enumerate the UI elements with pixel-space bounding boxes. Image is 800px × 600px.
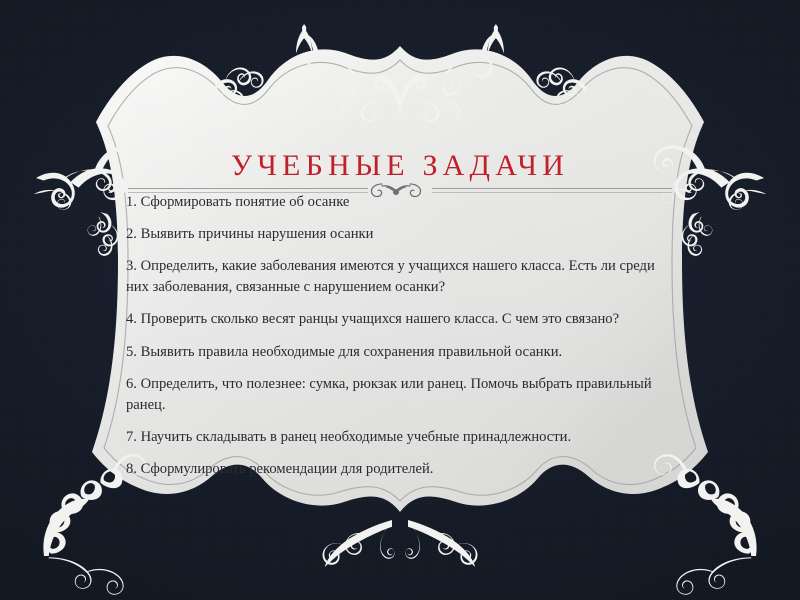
list-item: 5. Выявить правила необходимые для сохра… bbox=[126, 342, 678, 363]
slide-content: Учебные задачи bbox=[0, 0, 800, 600]
list-item: 6. Определить, что полезнее: сумка, рюкз… bbox=[126, 374, 678, 415]
list-item: 3. Определить, какие заболевания имеются… bbox=[126, 256, 678, 297]
slide-canvas: Учебные задачи bbox=[0, 0, 800, 600]
list-item: 2. Выявить причины нарушения осанки bbox=[126, 224, 678, 245]
list-item: 4. Проверить сколько весят ранцы учащихс… bbox=[126, 309, 678, 330]
list-item: 1. Сформировать понятие об осанке bbox=[126, 192, 678, 213]
page-title: Учебные задачи bbox=[0, 149, 800, 182]
list-item: 8. Сформулировать рекомендации для родит… bbox=[126, 459, 678, 480]
task-list: 1. Сформировать понятие об осанке 2. Выя… bbox=[126, 192, 678, 480]
list-item: 7. Научить складывать в ранец необходимы… bbox=[126, 427, 678, 448]
